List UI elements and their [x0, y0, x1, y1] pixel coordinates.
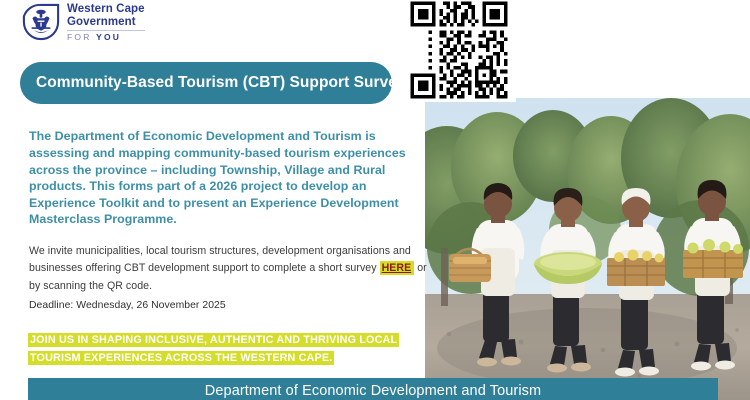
- footer-bar: Department of Economic Development and T…: [28, 378, 718, 400]
- logo-tagline-prefix: FOR: [67, 32, 96, 42]
- photo-four-women-harvest-baskets-orchard: [425, 98, 750, 400]
- survey-here-link[interactable]: HERE: [380, 261, 415, 275]
- footer-department-name: Department of Economic Development and T…: [205, 383, 541, 399]
- logo-tagline-emphasis: YOU: [96, 32, 121, 42]
- logo-divider: [67, 30, 145, 31]
- deadline-text: Deadline: Wednesday, 26 November 2025: [29, 300, 226, 311]
- invite-paragraph: We invite municipalities, local tourism …: [29, 243, 427, 296]
- logo-tagline: FOR YOU: [67, 33, 145, 42]
- qr-code-icon[interactable]: [402, 0, 516, 102]
- call-to-action-banner: JOIN US IN SHAPING INCLUSIVE, AUTHENTIC …: [28, 331, 428, 367]
- logo-line-two: Government: [67, 16, 145, 29]
- cta-line-two: TOURISM EXPERIENCES ACROSS THE WESTERN C…: [28, 351, 334, 365]
- lead-paragraph: The Department of Economic Development a…: [29, 128, 419, 228]
- logo-wordmark: Western Cape Government FOR YOU: [67, 3, 145, 42]
- poster-canvas: Western Cape Government FOR YOU: [0, 0, 750, 400]
- western-cape-government-logo: Western Cape Government FOR YOU: [22, 3, 145, 42]
- survey-title-pill: Community-Based Tourism (CBT) Support Su…: [20, 62, 392, 104]
- cta-line-one: JOIN US IN SHAPING INCLUSIVE, AUTHENTIC …: [28, 333, 399, 347]
- page-title: Community-Based Tourism (CBT) Support Su…: [20, 74, 406, 92]
- invite-text-before: We invite municipalities, local tourism …: [29, 245, 411, 275]
- logo-line-one: Western Cape: [67, 3, 145, 16]
- coat-of-arms-crest-icon: [22, 3, 60, 41]
